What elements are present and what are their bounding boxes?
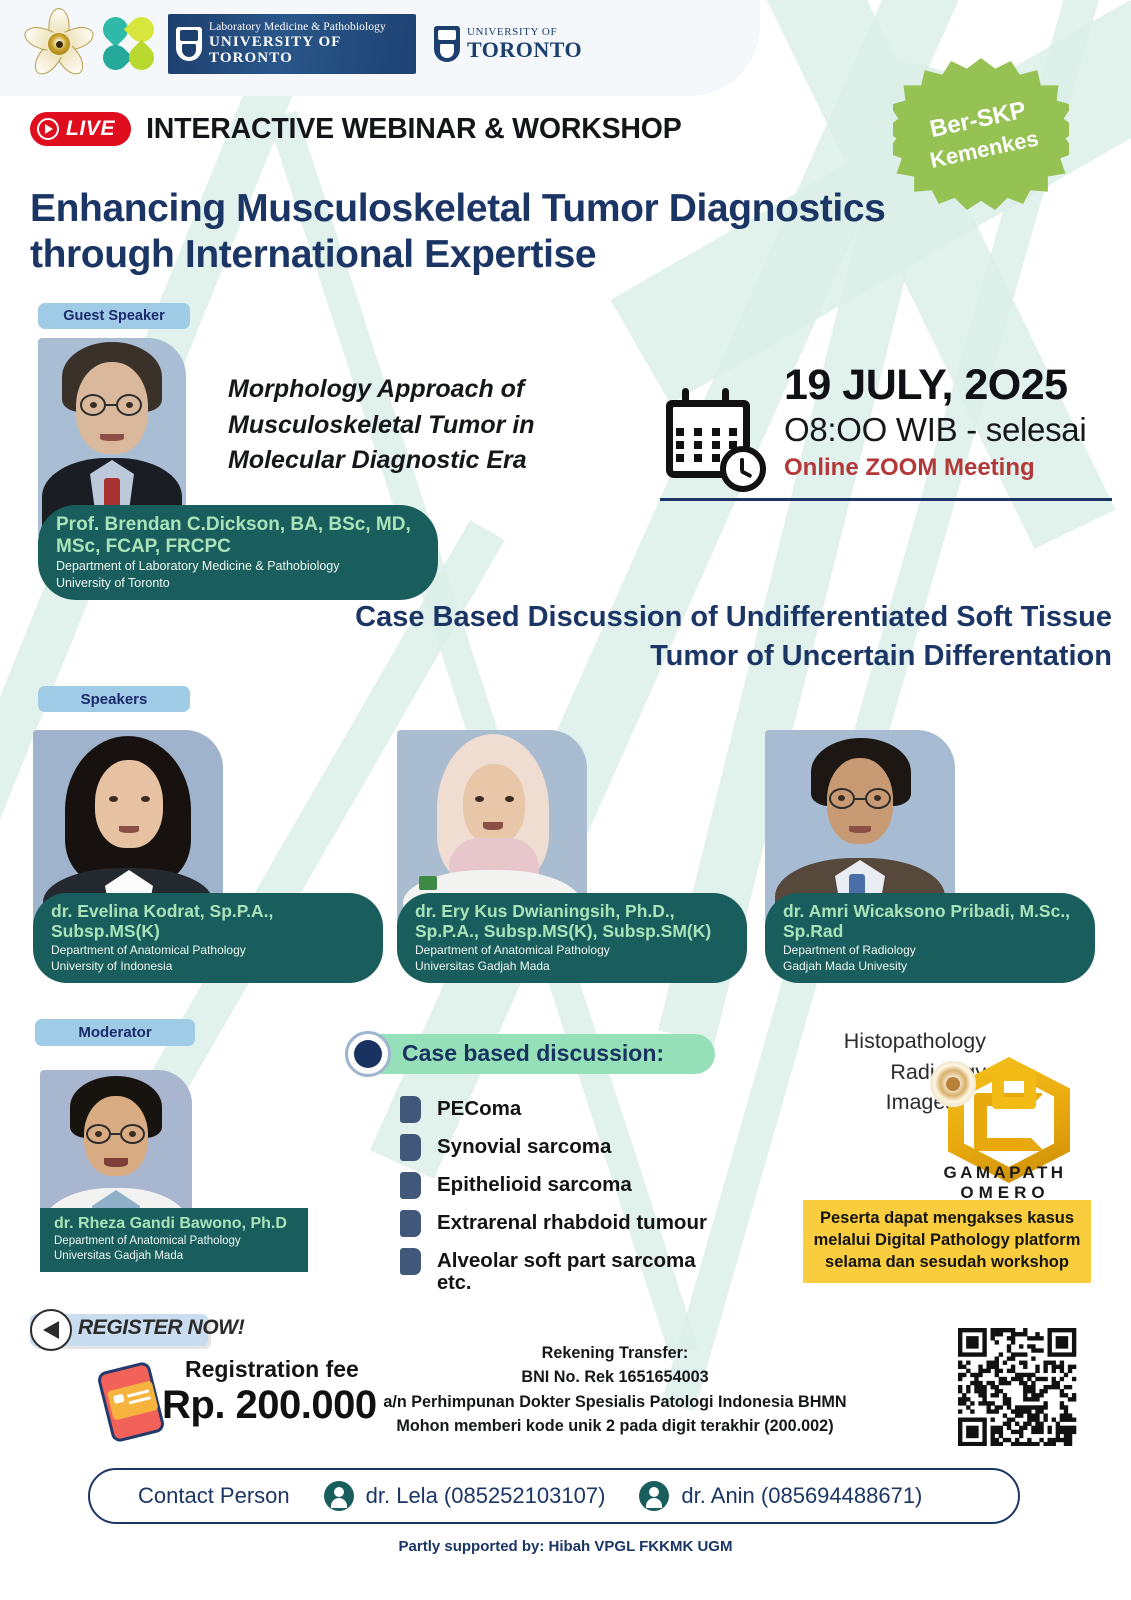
- case-discussion-list: PEComa Synovial sarcoma Epithelioid sarc…: [400, 1090, 707, 1280]
- person-icon: [639, 1481, 669, 1511]
- bank-line-4: Mohon memberi kode unik 2 pada digit ter…: [370, 1414, 860, 1438]
- uoft-lmp-line1: Laboratory Medicine & Pathobiology: [209, 21, 408, 34]
- moderator-nameplate: dr. Rheza Gandi Bawono, Ph.D Department …: [40, 1208, 308, 1272]
- contact-person-2-name: dr. Anin (085694488671): [681, 1483, 922, 1509]
- contact-bar: Contact Person dr. Lela (085252103107) d…: [88, 1468, 1020, 1524]
- list-item: PEComa: [400, 1090, 707, 1128]
- event-datetime: 19 JULY, 2O25 O8:OO WIB - selesai Online…: [660, 358, 1110, 492]
- divider: [660, 498, 1112, 501]
- bank-line-2: BNI No. Rek 1651654003: [370, 1365, 860, 1389]
- case-discussion-etc: etc.: [437, 1272, 471, 1295]
- uoft-crest-icon: [176, 27, 202, 61]
- register-now-label[interactable]: REGISTER NOW!: [78, 1316, 244, 1340]
- moderator-affiliation-1: Department of Anatomical Pathology: [54, 1235, 296, 1248]
- case-item-label: Extrarenal rhabdoid tumour: [437, 1211, 707, 1235]
- speaker-nameplate-1: dr. Evelina Kodrat, Sp.P.A., Subsp.MS(K)…: [33, 893, 383, 983]
- event-time: O8:OO WIB - selesai: [784, 409, 1086, 451]
- guest-speaker-nameplate: Prof. Brendan C.Dickson, BA, BSc, MD, MS…: [38, 505, 438, 600]
- gamapath-name-1: GAMAPATH: [930, 1163, 1080, 1183]
- phone-payment-icon: [96, 1361, 166, 1444]
- speaker-name-3: dr. Amri Wicaksono Pribadi, M.Sc., Sp.Ra…: [783, 902, 1079, 942]
- guest-affiliation-2: University of Toronto: [56, 576, 422, 590]
- qr-code[interactable]: [948, 1328, 1086, 1446]
- list-item: Epithelioid sarcoma: [400, 1166, 707, 1204]
- speaker-affiliation-1a: Department of Anatomical Pathology: [51, 944, 367, 958]
- live-badge: LIVE: [30, 112, 131, 146]
- uoft-lmp-line2: UNIVERSITY OF TORONTO: [209, 34, 408, 68]
- bank-transfer-details: Rekening Transfer: BNI No. Rek 165165400…: [370, 1341, 860, 1438]
- speaker-name-2: dr. Ery Kus Dwianingsih, Ph.D., Sp.P.A.,…: [415, 902, 731, 942]
- live-label: LIVE: [66, 117, 115, 141]
- bullet-square-icon: [400, 1248, 421, 1275]
- status-badge: Ber-SKP Kemenkes: [893, 58, 1069, 210]
- webinar-poster: Laboratory Medicine & Pathobiology UNIVE…: [0, 0, 1131, 1600]
- chip-guest-speaker: Guest Speaker: [38, 303, 190, 329]
- uoft-line2: TORONTO: [467, 38, 582, 62]
- gamapath-wordmark: GAMAPATH OMERO: [930, 1163, 1080, 1203]
- case-item-label: Alveolar soft part sarcoma: [437, 1249, 696, 1273]
- bullet-square-icon: [400, 1096, 421, 1123]
- speaker-name-1: dr. Evelina Kodrat, Sp.P.A., Subsp.MS(K): [51, 902, 367, 942]
- speaker-nameplate-2: dr. Ery Kus Dwianingsih, Ph.D., Sp.P.A.,…: [397, 893, 747, 983]
- speaker-affiliation-2a: Department of Anatomical Pathology: [415, 944, 731, 958]
- speaker-affiliation-3b: Gadjah Mada Univesity: [783, 960, 1079, 974]
- speaker-nameplate-3: dr. Amri Wicaksono Pribadi, M.Sc., Sp.Ra…: [765, 893, 1095, 983]
- ugm-seal-small-icon: [930, 1061, 976, 1107]
- footnote: Partly supported by: Hibah VPGL FKKMK UG…: [0, 1538, 1131, 1555]
- registration-fee-amount: Rp. 200.000: [162, 1383, 377, 1428]
- contact-label: Contact Person: [138, 1483, 290, 1509]
- list-item: Extrarenal rhabdoid tumour: [400, 1204, 707, 1242]
- moderator-affiliation-2: Universitas Gadjah Mada: [54, 1250, 296, 1263]
- registration-fee-label: Registration fee: [185, 1356, 359, 1383]
- bullet-circle-icon: [345, 1031, 391, 1077]
- contact-person-1-name: dr. Lela (085252103107): [366, 1483, 606, 1509]
- chip-speakers: Speakers: [38, 686, 190, 712]
- clover-logo-icon: [102, 15, 156, 73]
- event-platform: Online ZOOM Meeting: [784, 452, 1086, 483]
- guest-name: Prof. Brendan C.Dickson, BA, BSc, MD, MS…: [56, 514, 422, 557]
- platform-access-note: Peserta dapat mengakses kasus melalui Di…: [803, 1200, 1091, 1283]
- kicker-text: INTERACTIVE WEBINAR & WORKSHOP: [146, 113, 682, 146]
- contact-person-2[interactable]: dr. Anin (085694488671): [639, 1481, 922, 1511]
- speaker-affiliation-2b: Universitas Gadjah Mada: [415, 960, 731, 974]
- case-item-label: Epithelioid sarcoma: [437, 1173, 632, 1197]
- speaker-affiliation-3a: Department of Radiology: [783, 944, 1079, 958]
- list-item: Synovial sarcoma: [400, 1128, 707, 1166]
- play-icon: [37, 118, 59, 140]
- bullet-square-icon: [400, 1172, 421, 1199]
- case-item-label: Synovial sarcoma: [437, 1135, 611, 1159]
- bank-line-1: Rekening Transfer:: [370, 1341, 860, 1365]
- page-title: Enhancing Musculoskeletal Tumor Diagnost…: [30, 186, 1040, 278]
- bullet-square-icon: [400, 1210, 421, 1237]
- session-title: Case Based Discussion of Undifferentiate…: [352, 598, 1112, 676]
- speaker-affiliation-1b: University of Indonesia: [51, 960, 367, 974]
- chip-moderator: Moderator: [35, 1019, 195, 1046]
- kicker-row: LIVE INTERACTIVE WEBINAR & WORKSHOP: [30, 112, 682, 146]
- event-date: 19 JULY, 2O25: [784, 362, 1086, 409]
- megaphone-icon: [30, 1309, 72, 1351]
- guest-affiliation-1: Department of Laboratory Medicine & Path…: [56, 559, 422, 573]
- bullet-square-icon: [400, 1134, 421, 1161]
- header-logos: Laboratory Medicine & Pathobiology UNIVE…: [28, 8, 582, 80]
- qr-code-image: [948, 1328, 1086, 1446]
- person-icon: [324, 1481, 354, 1511]
- uoft-lmp-logo: Laboratory Medicine & Pathobiology UNIVE…: [168, 14, 416, 74]
- bank-line-3: a/n Perhimpunan Dokter Spesialis Patolog…: [370, 1390, 860, 1414]
- contact-person-1[interactable]: dr. Lela (085252103107): [324, 1481, 606, 1511]
- guest-talk-title: Morphology Approach of Musculoskeletal T…: [228, 372, 628, 479]
- uoft-crest2-icon: [434, 26, 460, 62]
- calendar-clock-icon: [660, 386, 768, 492]
- uoft-logo: UNIVERSITY OF TORONTO: [434, 26, 582, 62]
- ugm-seal-icon: [28, 8, 90, 80]
- case-item-label: PEComa: [437, 1097, 521, 1121]
- moderator-name: dr. Rheza Gandi Bawono, Ph.D: [54, 1215, 296, 1233]
- case-discussion-heading: Case based discussion:: [402, 1040, 664, 1067]
